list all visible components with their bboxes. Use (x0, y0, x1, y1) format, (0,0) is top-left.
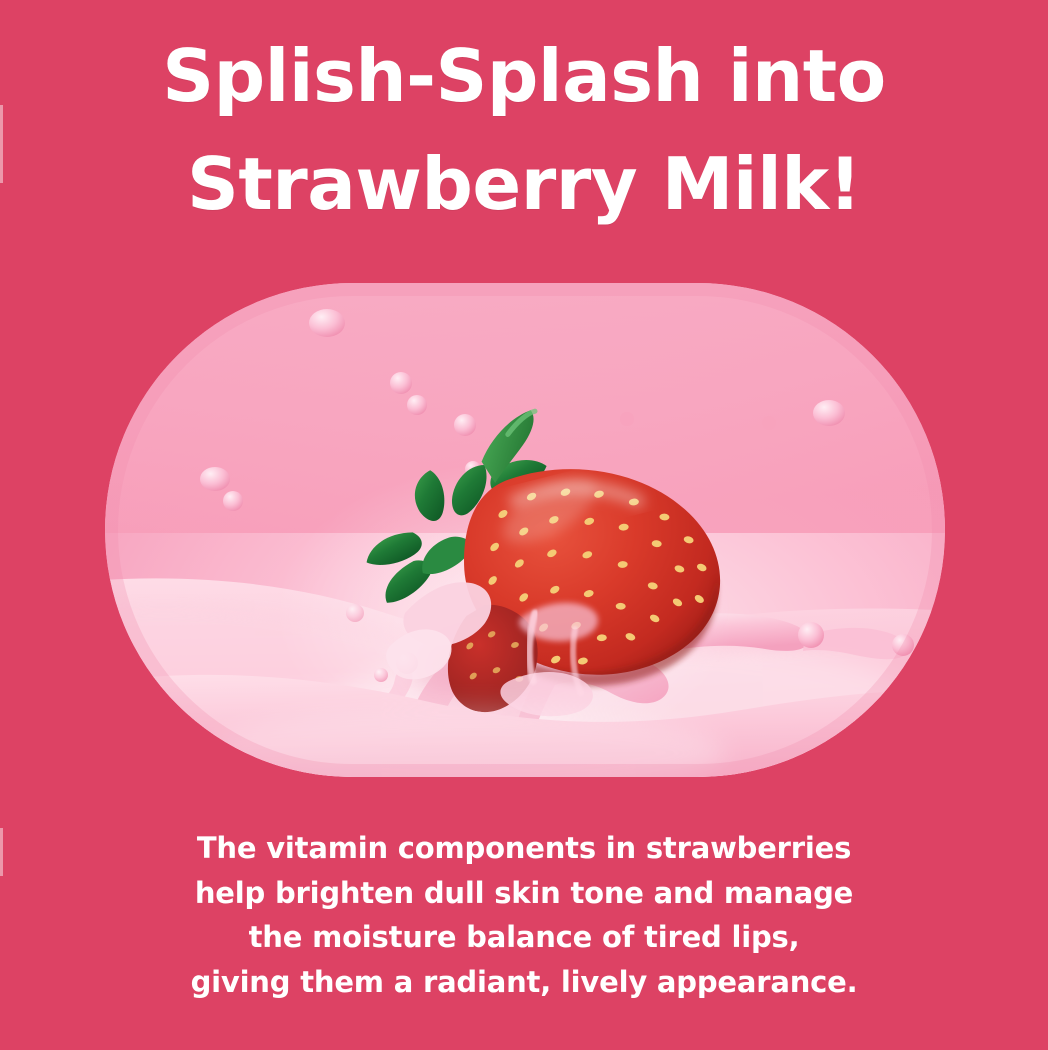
description-text: The vitamin components in strawberries h… (0, 826, 1048, 1004)
strawberry-milk-splash-photo (105, 283, 945, 777)
photo-illustration (105, 283, 945, 777)
promo-card: Splish-Splash into Strawberry Milk! (0, 0, 1048, 1050)
milk-droplet (798, 622, 824, 648)
page-title: Splish-Splash into Strawberry Milk! (0, 22, 1048, 238)
